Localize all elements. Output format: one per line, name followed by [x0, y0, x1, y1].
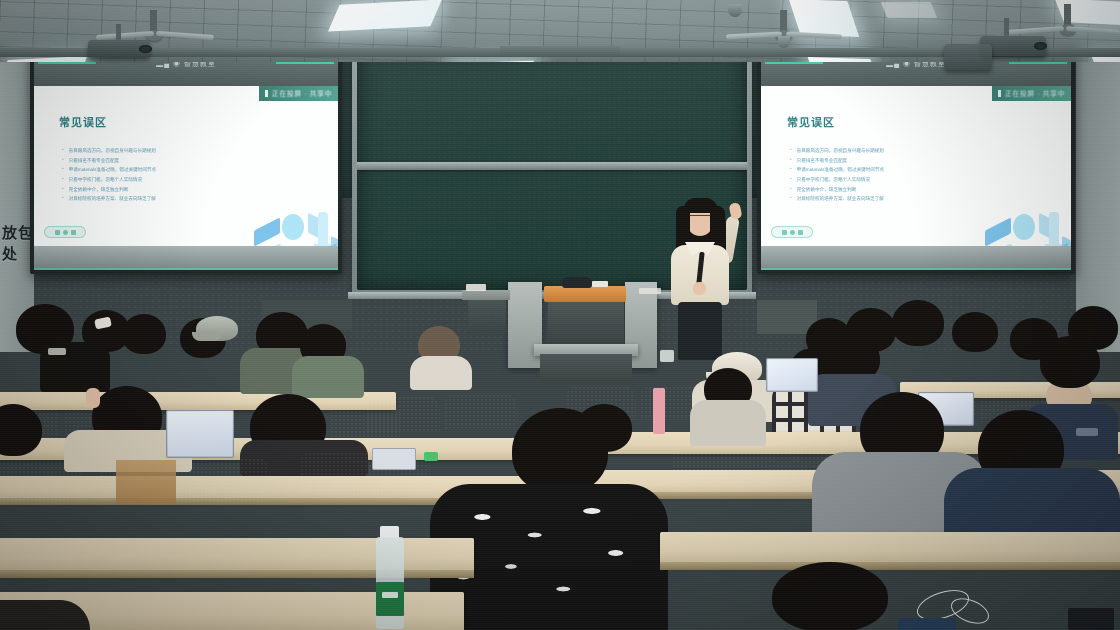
desk-row-front-right-edge	[660, 562, 1120, 570]
bullet-text: 只看中学校门槛，忽略个人实际情况	[69, 177, 143, 182]
podium-front-face	[548, 302, 624, 344]
dome-camera-icon	[778, 36, 790, 48]
bullet-dot-icon: •	[62, 187, 64, 192]
bullet-text: 盲目跟风选方向，忽视自身兴趣与长期规划	[69, 148, 156, 153]
bullet-dot-icon: •	[62, 196, 64, 201]
left-slide-share-tab[interactable]: 正在投屏 · 共享中	[259, 86, 338, 101]
bullet-dot-icon: •	[790, 167, 792, 172]
podium-object	[562, 277, 592, 288]
student-body	[0, 600, 90, 630]
hoodie-logo	[1076, 428, 1098, 436]
bullet-dot-icon: •	[62, 158, 64, 163]
student-hand	[86, 388, 100, 408]
grid-icon[interactable]	[55, 230, 60, 235]
fan-pole	[780, 10, 787, 32]
list-item: •对目标院校的培养方案、就业去向缺乏了解	[790, 196, 884, 201]
seat-wood-patch	[116, 460, 176, 504]
bottle-brand-mark	[382, 592, 398, 598]
left-slide-toolbar-badge[interactable]	[44, 226, 86, 238]
teacher-side-table-leg	[468, 300, 506, 334]
fan-pole	[1064, 4, 1071, 26]
laptop[interactable]	[766, 358, 818, 392]
bullet-text: 完全依赖中介，缺乏独立判断	[797, 187, 857, 192]
notebook	[898, 618, 956, 630]
student-head	[122, 314, 166, 354]
right-slide-bullets: •盲目跟风选方向，忽视自身兴趣与长期规划 •只看排名不看专业匹配度 •申请mat…	[790, 148, 884, 202]
pen-icon[interactable]	[790, 230, 795, 235]
left-slide-bullets: •盲目跟风选方向，忽视自身兴趣与长期规划 •只看排名不看专业匹配度 •申请mat…	[62, 148, 156, 202]
glasses-icon	[689, 215, 711, 220]
student-head	[1040, 336, 1100, 388]
student-body	[690, 400, 766, 446]
blackboard-divider	[357, 162, 747, 170]
right-slide-share-tab[interactable]: 正在投屏 · 共享中	[992, 86, 1071, 101]
left-slide-illustration	[252, 204, 338, 246]
bullet-dot-icon: •	[790, 158, 792, 163]
bullet-text: 申请materials准备过晚，错过关键时间节点	[69, 167, 157, 172]
bullet-dot-icon: •	[790, 148, 792, 153]
bullet-text: 对目标院校的培养方案、就业去向缺乏了解	[797, 196, 884, 201]
bullet-text: 只看排名不看专业匹配度	[797, 158, 848, 163]
bullet-text: 申请materials准备过晚，错过关键时间节点	[797, 167, 885, 172]
ceiling-light-panel	[881, 2, 937, 18]
presenter-skirt	[678, 302, 722, 360]
side-table-papers	[466, 284, 486, 291]
right-projection-screen: ▂▄ ◉ 智慧教室 正在投屏 · 共享中 常见误区 •盲目跟风选方向，忽视自身兴…	[757, 44, 1075, 274]
list-item: •只看中学校门槛，忽略个人实际情况	[790, 177, 884, 182]
note-icon[interactable]	[798, 230, 803, 235]
desk-row-front-right	[660, 532, 1120, 566]
list-item: •盲目跟风选方向，忽视自身兴趣与长期规划	[62, 148, 156, 153]
student-body	[410, 356, 472, 390]
seat	[444, 394, 518, 430]
list-item: •只看中学校门槛，忽略个人实际情况	[62, 177, 156, 182]
list-item: •申请materials准备过晚，错过关键时间节点	[62, 167, 156, 172]
left-slide-tab-label: 正在投屏 · 共享中	[272, 89, 332, 99]
bullet-text: 对目标院校的培养方案、就业去向缺乏了解	[69, 196, 156, 201]
bullet-dot-icon: •	[790, 177, 792, 182]
right-screen-base	[761, 246, 1071, 270]
left-slide: 正在投屏 · 共享中 常见误区 •盲目跟风选方向，忽视自身兴趣与长期规划 •只看…	[34, 86, 338, 246]
right-slide-illustration	[983, 204, 1071, 246]
teacher-side-table	[462, 290, 510, 300]
share-dot-icon	[265, 90, 268, 97]
bullet-text: 只看排名不看专业匹配度	[69, 158, 120, 163]
grid-icon[interactable]	[782, 230, 787, 235]
list-item: •申请materials准备过晚，错过关键时间节点	[790, 167, 884, 172]
bullet-text: 完全依赖中介，缺乏独立判断	[69, 187, 129, 192]
student-head	[772, 562, 888, 630]
left-screen-base	[34, 246, 338, 270]
seat	[300, 452, 430, 496]
fan-pole	[150, 10, 157, 32]
board-ledge-book	[639, 288, 661, 294]
right-slide-toolbar-badge[interactable]	[771, 226, 813, 238]
bullet-text: 只看中学校门槛，忽略个人实际情况	[797, 177, 871, 182]
right-slide: 正在投屏 · 共享中 常见误区 •盲目跟风选方向，忽视自身兴趣与长期规划 •只看…	[761, 86, 1071, 246]
pen-icon[interactable]	[63, 230, 68, 235]
podium-wooden-top	[544, 286, 626, 302]
share-dot-icon	[998, 90, 1001, 97]
lecture-hall-photo: 放包处 ▂▄ ◉ 智慧教室 正在投屏 · 共享中 常见误区 •盲目跟风选方向，忽…	[0, 0, 1120, 630]
bullet-dot-icon: •	[790, 196, 792, 201]
bullet-dot-icon: •	[62, 177, 64, 182]
laptop[interactable]	[166, 410, 234, 458]
note-icon[interactable]	[71, 230, 76, 235]
list-item: •完全依赖中介，缺乏独立判断	[62, 187, 156, 192]
presenter	[660, 190, 770, 360]
bullet-text: 盲目跟风选方向，忽视自身兴趣与长期规划	[797, 148, 884, 153]
right-slide-tab-label: 正在投屏 · 共享中	[1005, 89, 1065, 99]
bullet-dot-icon: •	[62, 148, 64, 153]
bullet-dot-icon: •	[62, 167, 64, 172]
ceiling-beam	[500, 46, 620, 57]
student-head	[892, 300, 944, 346]
bullet-dot-icon: •	[790, 187, 792, 192]
list-item: •只看排名不看专业匹配度	[790, 158, 884, 163]
right-slide-title: 常见误区	[787, 114, 835, 130]
phone[interactable]	[1068, 608, 1114, 630]
list-item: •只看排名不看专业匹配度	[62, 158, 156, 163]
seat	[0, 458, 82, 502]
bottle-label	[376, 582, 404, 616]
podium-papers	[592, 281, 608, 287]
left-slide-title: 常见误区	[59, 114, 107, 130]
pink-cup	[653, 388, 665, 434]
student-head	[576, 404, 632, 452]
list-item: •对目标院校的培养方案、就业去向缺乏了解	[62, 196, 156, 201]
student-cap	[196, 316, 238, 341]
left-projection-screen: ▂▄ ◉ 智慧教室 正在投屏 · 共享中 常见误区 •盲目跟风选方向，忽视自身兴…	[30, 44, 342, 274]
seat	[366, 396, 440, 432]
projector-lens-icon	[1034, 42, 1047, 50]
student-body	[292, 356, 364, 398]
projector-lens-icon	[139, 45, 152, 53]
podium-lower-face	[540, 354, 632, 382]
list-item: •盲目跟风选方向，忽视自身兴趣与长期规划	[790, 148, 884, 153]
wall-control-box	[944, 44, 992, 70]
student-head	[952, 312, 998, 352]
jacket-text	[48, 348, 66, 355]
projector-mount-right	[1004, 18, 1009, 38]
presenter-hand-left	[693, 282, 706, 295]
projector-mount-left	[116, 24, 121, 42]
ceiling-duct-left	[0, 48, 500, 57]
water-bottle[interactable]	[370, 526, 410, 630]
list-item: •完全依赖中介，缺乏独立判断	[790, 187, 884, 192]
